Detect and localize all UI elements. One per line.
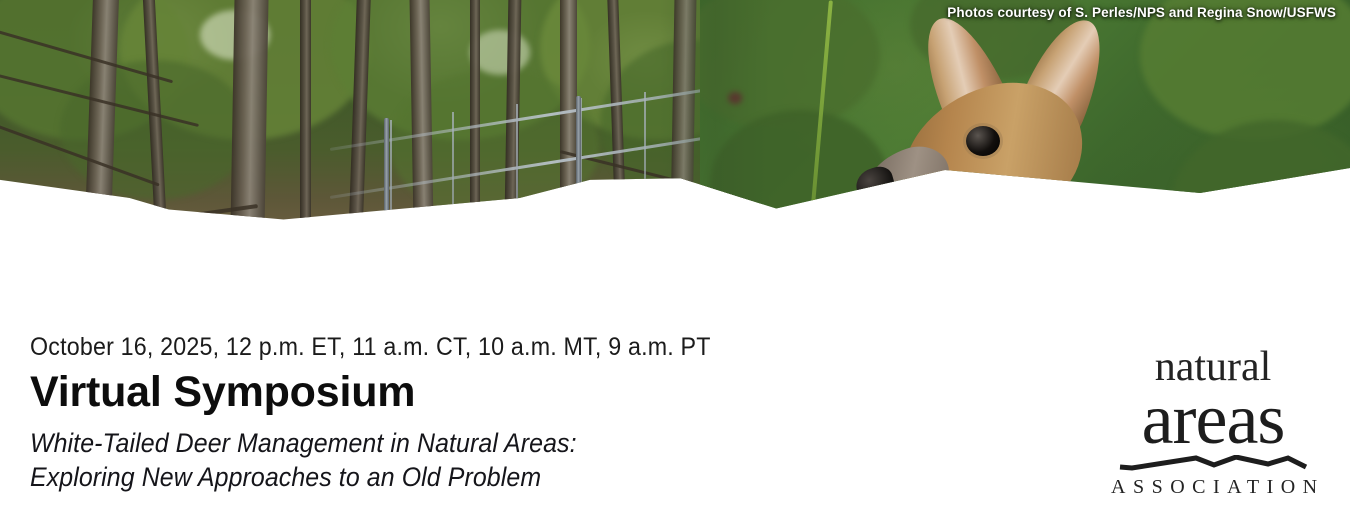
banner-photo-band: Photos courtesy of S. Perles/NPS and Reg… bbox=[0, 0, 1350, 330]
event-subtitle-line-1: White-Tailed Deer Management in Natural … bbox=[30, 426, 989, 460]
event-date-line: October 16, 2025, 12 p.m. ET, 11 a.m. CT… bbox=[30, 333, 979, 362]
event-text-block: October 16, 2025, 12 p.m. ET, 11 a.m. CT… bbox=[30, 333, 1050, 495]
fence-post bbox=[576, 96, 581, 321]
white-tailed-deer-photo bbox=[700, 0, 1350, 330]
page-title: Virtual Symposium bbox=[30, 369, 1050, 416]
logo-word-association: ASSOCIATION bbox=[1104, 476, 1322, 499]
event-subtitle-line-2: Exploring New Approaches to an Old Probl… bbox=[30, 460, 989, 494]
fence-post bbox=[384, 118, 389, 323]
event-subtitle: White-Tailed Deer Management in Natural … bbox=[30, 426, 989, 495]
forest-exclosure-photo bbox=[0, 0, 760, 330]
photo-credit-text: Photos courtesy of S. Perles/NPS and Reg… bbox=[947, 5, 1336, 20]
deer-neck bbox=[949, 156, 1087, 330]
white-flower bbox=[1016, 244, 1072, 292]
logo-word-areas: areas bbox=[1104, 386, 1322, 452]
natural-areas-association-logo: natural areas ASSOCIATION bbox=[1104, 348, 1322, 499]
fence-wire bbox=[290, 232, 760, 295]
symposium-banner: Photos courtesy of S. Perles/NPS and Reg… bbox=[0, 0, 1350, 520]
deer-eye bbox=[966, 126, 1000, 156]
deer-figure bbox=[840, 10, 1170, 330]
